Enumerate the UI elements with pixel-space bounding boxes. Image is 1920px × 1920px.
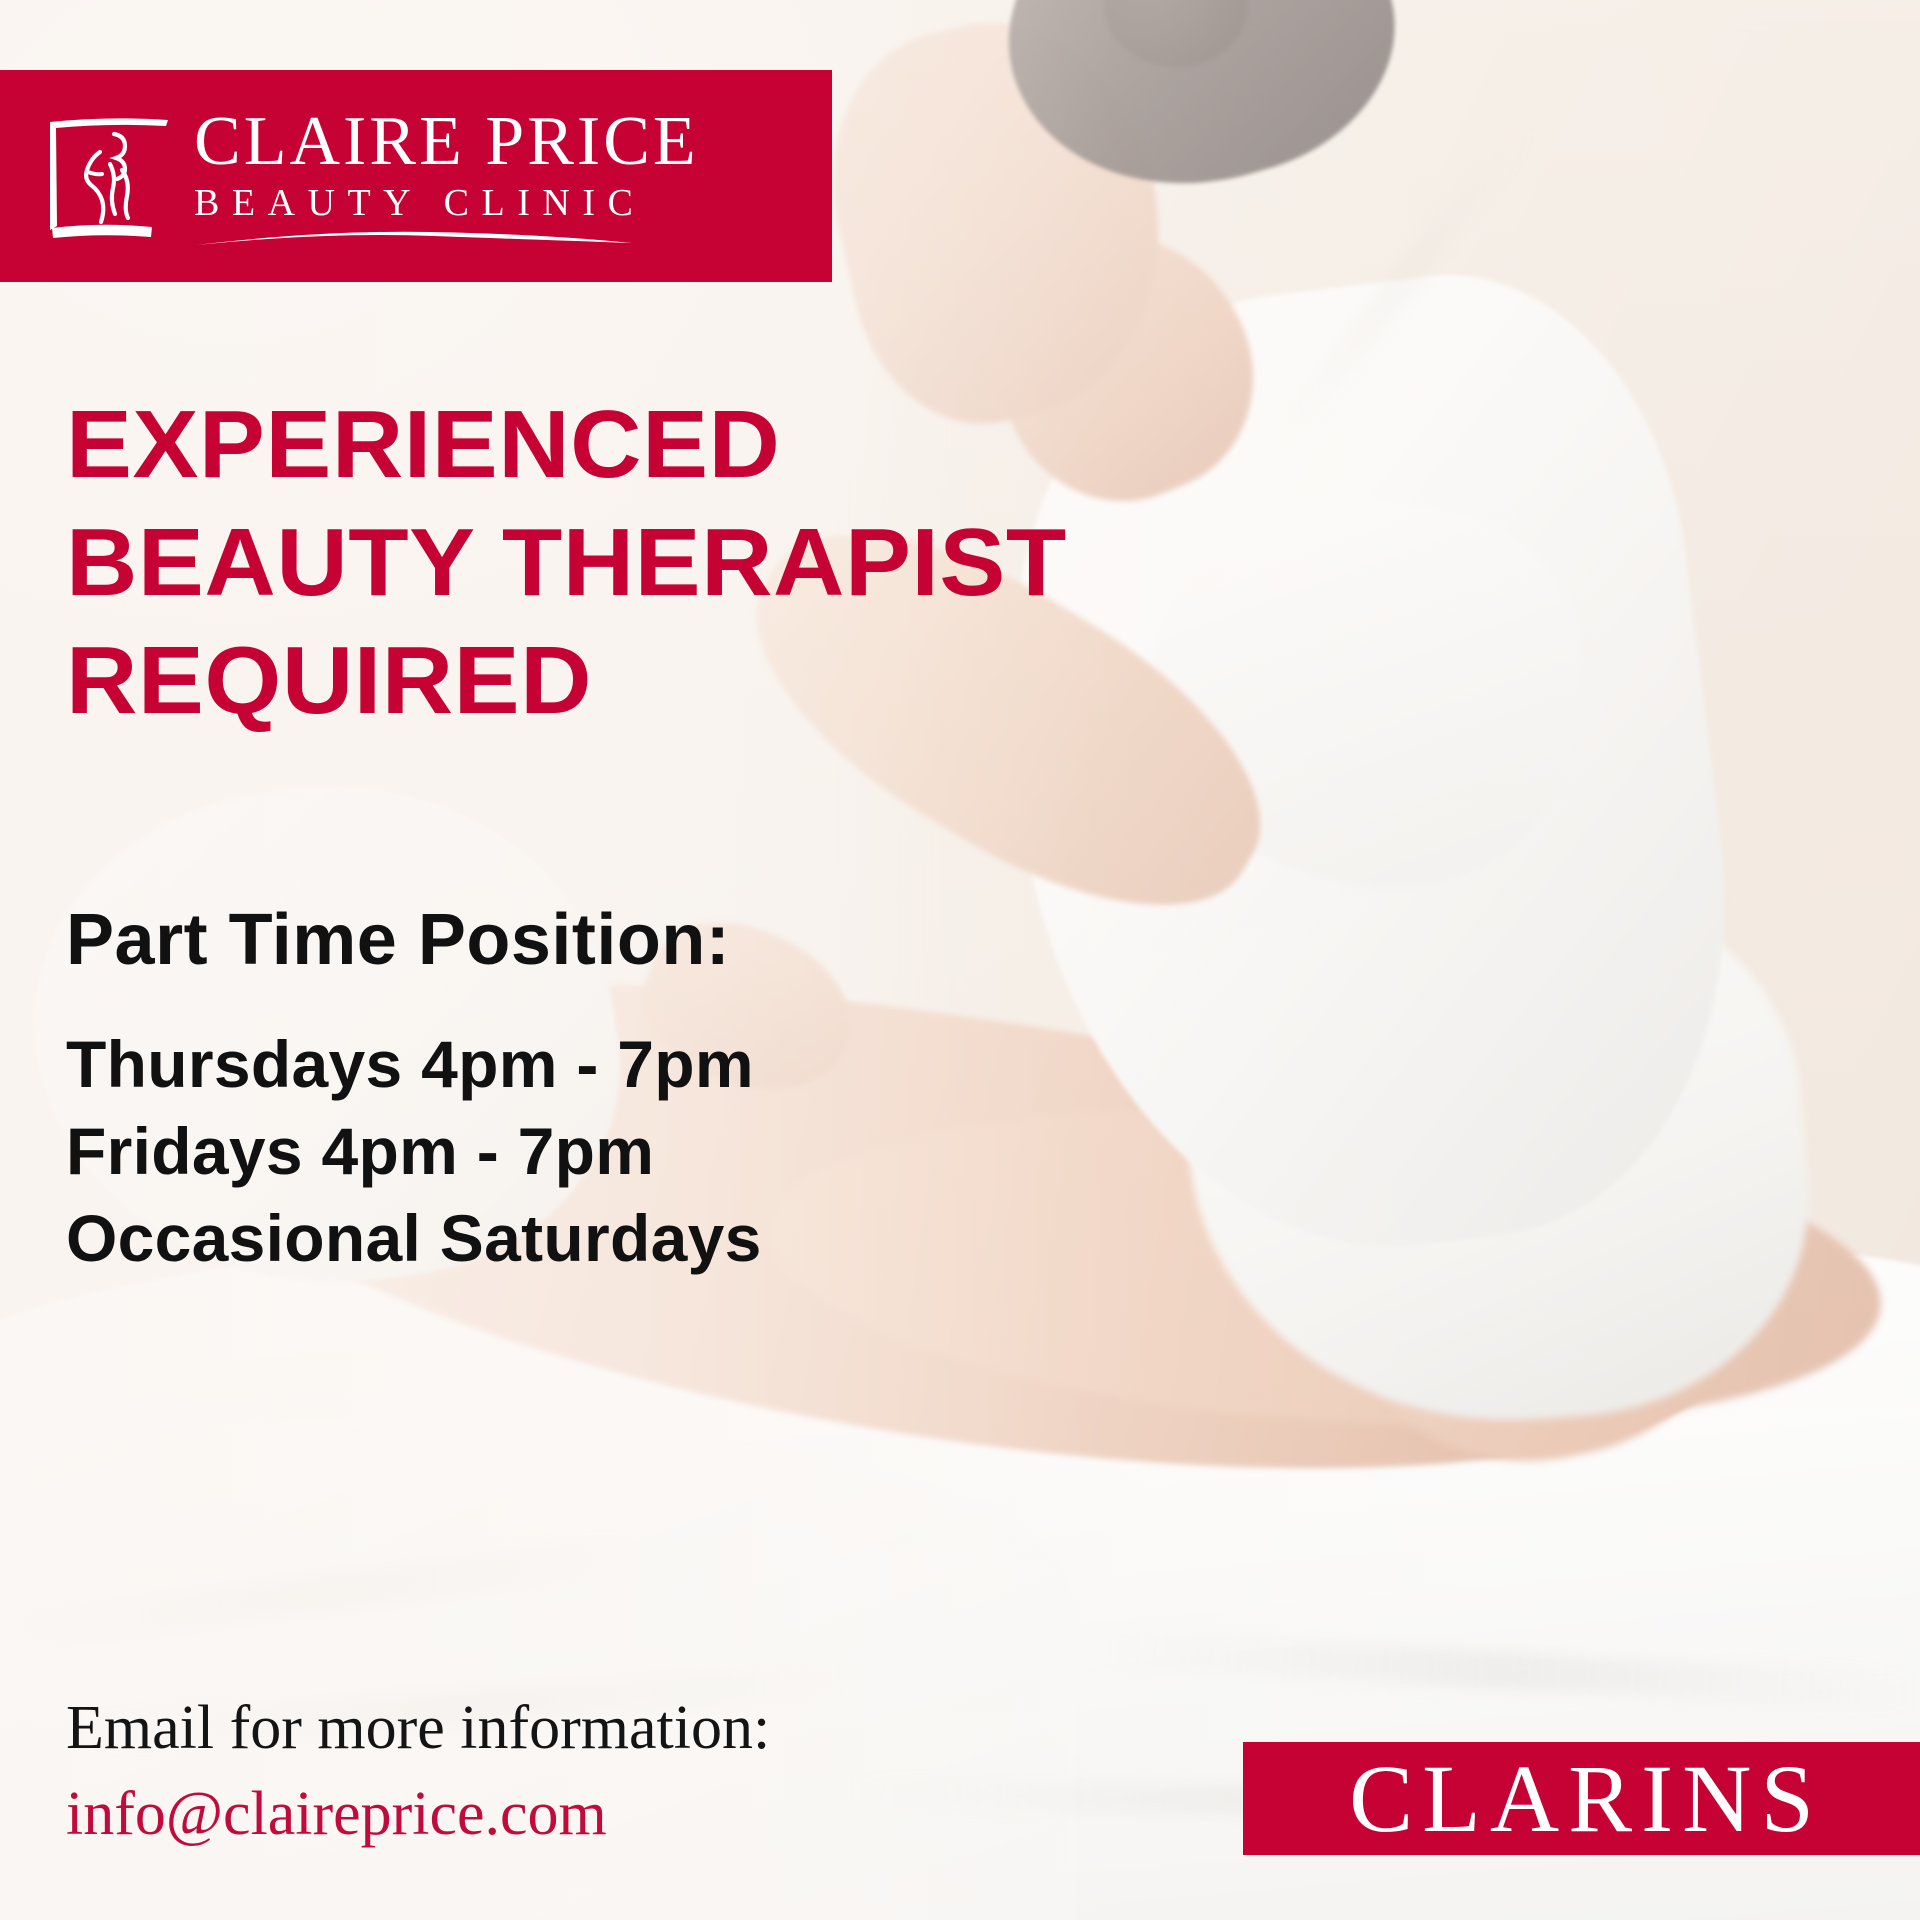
partner-brand-name: CLARINS bbox=[1340, 1751, 1823, 1847]
partner-brand-badge: CLARINS bbox=[1243, 1742, 1920, 1855]
clinic-tagline: BEAUTY CLINIC bbox=[194, 182, 699, 226]
schedule-title: Part Time Position: bbox=[66, 898, 762, 983]
schedule-item: Thursdays 4pm - 7pm bbox=[66, 1021, 762, 1108]
schedule-item: Occasional Saturdays bbox=[66, 1195, 762, 1282]
clinic-logo-wordmark: CLAIRE PRICE BEAUTY CLINIC bbox=[194, 104, 699, 248]
clinic-logo-banner: CLAIRE PRICE BEAUTY CLINIC bbox=[0, 70, 832, 282]
headline-line-2: BEAUTY THERAPIST bbox=[66, 504, 1067, 622]
headline-line-1: EXPERIENCED bbox=[66, 386, 1067, 504]
contact-email-link[interactable]: info@claireprice.com bbox=[66, 1776, 770, 1854]
schedule-item: Fridays 4pm - 7pm bbox=[66, 1108, 762, 1195]
female-figure-icon bbox=[44, 106, 176, 246]
poster-canvas: CLAIRE PRICE BEAUTY CLINIC EXPERIENCED B… bbox=[0, 0, 1920, 1920]
clinic-name: CLAIRE PRICE bbox=[194, 108, 699, 177]
contact-block: Email for more information: info@clairep… bbox=[66, 1690, 770, 1853]
page-title: EXPERIENCED BEAUTY THERAPIST REQUIRED bbox=[66, 386, 1067, 740]
schedule-list: Thursdays 4pm - 7pm Fridays 4pm - 7pm Oc… bbox=[66, 1021, 762, 1282]
poster-content: CLAIRE PRICE BEAUTY CLINIC EXPERIENCED B… bbox=[0, 0, 1920, 1920]
logo-underline-swoosh bbox=[194, 230, 634, 248]
headline-line-3: REQUIRED bbox=[66, 622, 1067, 740]
contact-label: Email for more information: bbox=[66, 1690, 770, 1768]
schedule-block: Part Time Position: Thursdays 4pm - 7pm … bbox=[66, 898, 762, 1282]
